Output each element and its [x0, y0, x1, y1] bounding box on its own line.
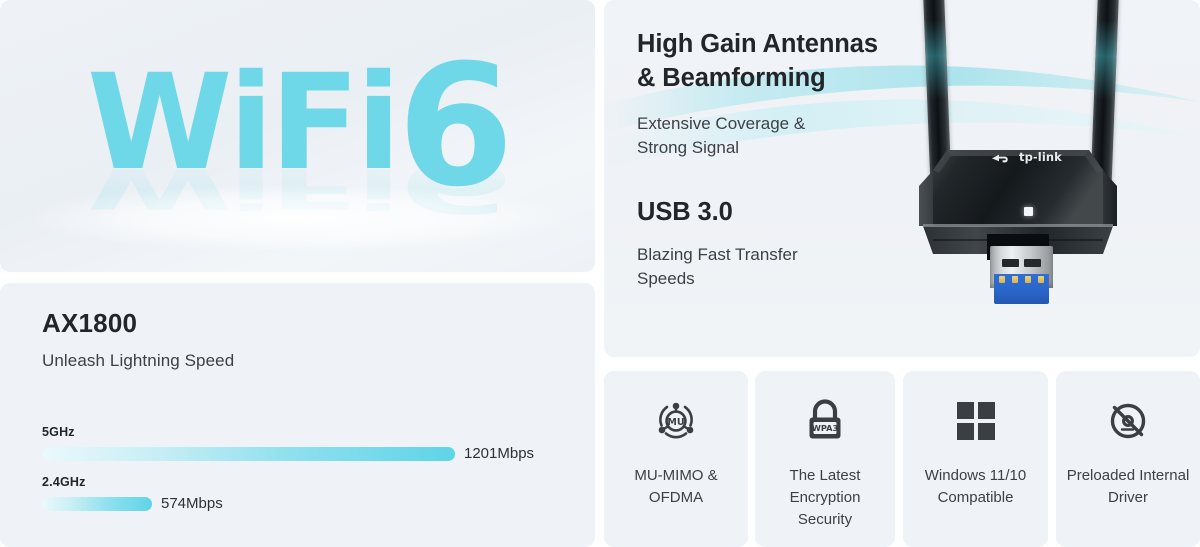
feature-body-antennas: Extensive Coverage & Strong Signal [637, 112, 805, 160]
tp-link-wordmark: tp-link [1019, 150, 1062, 164]
feature-heading-antennas-line2: & Beamforming [637, 61, 878, 95]
feature-body-usb-line2: Speeds [637, 267, 798, 291]
feature-card-label-mu-mimo: MU-MIMO & OFDMA [612, 465, 740, 509]
feature-body-antennas-line2: Strong Signal [637, 136, 805, 160]
band-label-24ghz: 2.4GHz [42, 475, 223, 489]
usb-slot-right [1024, 259, 1041, 267]
usb3-blue-insert [994, 274, 1049, 304]
feature-body-usb: Blazing Fast Transfer Speeds [637, 243, 798, 291]
usb-slot-left [1002, 259, 1019, 267]
feature-card-driver: Preloaded Internal Driver [1056, 371, 1200, 547]
band-row-24ghz: 2.4GHz 574Mbps [42, 475, 223, 512]
band-value-24ghz: 574Mbps [161, 495, 223, 512]
feature-heading-usb: USB 3.0 [637, 198, 733, 227]
tp-link-logo-icon: tp-link [992, 150, 1062, 164]
feature-card-windows: Windows 11/10 Compatible [903, 371, 1048, 547]
mu-mimo-icon-text: MU [667, 417, 684, 428]
feature-heading-antennas: High Gain Antennas & Beamforming [637, 27, 878, 95]
band-value-5ghz: 1201Mbps [464, 445, 534, 462]
band-bar-row-24ghz: 574Mbps [42, 495, 223, 512]
wpa3-icon-text: WPA3 [812, 423, 839, 433]
band-bar-24ghz [42, 497, 152, 511]
feature-card-label-encryption: The Latest Encryption Security [763, 465, 887, 531]
antenna-left-tint [924, 20, 948, 101]
feature-body-usb-line1: Blazing Fast Transfer [637, 243, 798, 267]
feature-heading-antennas-line1: High Gain Antennas [637, 27, 878, 61]
wifi6-logo-reflection: WiFi6 [0, 151, 595, 222]
speed-panel-title: AX1800 [42, 308, 137, 339]
usb-connector-icon [990, 246, 1053, 304]
feature-card-label-windows: Windows 11/10 Compatible [911, 465, 1040, 509]
band-bar-5ghz [42, 447, 455, 461]
mu-mimo-icon: MU [604, 397, 748, 445]
tp-link-mark-icon [992, 151, 1014, 164]
band-bar-row-5ghz: 1201Mbps [42, 445, 534, 462]
usb-pin-4 [1038, 276, 1044, 283]
usb-adapter-product-image: tp-link [880, 0, 1200, 340]
windows-icon [903, 397, 1048, 445]
feature-card-encryption: WPA3 The Latest Encryption Security [755, 371, 895, 547]
antenna-feature-panel: High Gain Antennas & Beamforming Extensi… [604, 0, 1200, 357]
feature-body-antennas-line1: Extensive Coverage & [637, 112, 805, 136]
usb-pin-3 [1025, 276, 1031, 283]
wpa3-lock-icon: WPA3 [755, 397, 895, 445]
band-row-5ghz: 5GHz 1201Mbps [42, 425, 534, 462]
no-disc-icon [1056, 397, 1200, 445]
usb-pin-1 [999, 276, 1005, 283]
wifi6-hero-panel: WiFi6 WiFi6 [0, 0, 595, 272]
wifi6-numeral-reflection: 6 [397, 146, 508, 228]
product-feature-banner: WiFi6 WiFi6 AX1800 Unleash Lightning Spe… [0, 0, 1200, 547]
usb-pin-2 [1012, 276, 1018, 283]
feature-card-label-driver: Preloaded Internal Driver [1064, 465, 1192, 509]
speed-panel: AX1800 Unleash Lightning Speed 5GHz 1201… [0, 283, 595, 547]
band-label-5ghz: 5GHz [42, 425, 534, 439]
antenna-right-tint [1094, 20, 1118, 101]
status-led-icon [1024, 207, 1033, 216]
wifi6-word-reflection: WiFi [87, 156, 397, 221]
feature-card-mu-mimo: MU MU-MIMO & OFDMA [604, 371, 748, 547]
wifi6-logo: WiFi6 WiFi6 [0, 0, 595, 272]
speed-panel-subtitle: Unleash Lightning Speed [42, 351, 234, 371]
